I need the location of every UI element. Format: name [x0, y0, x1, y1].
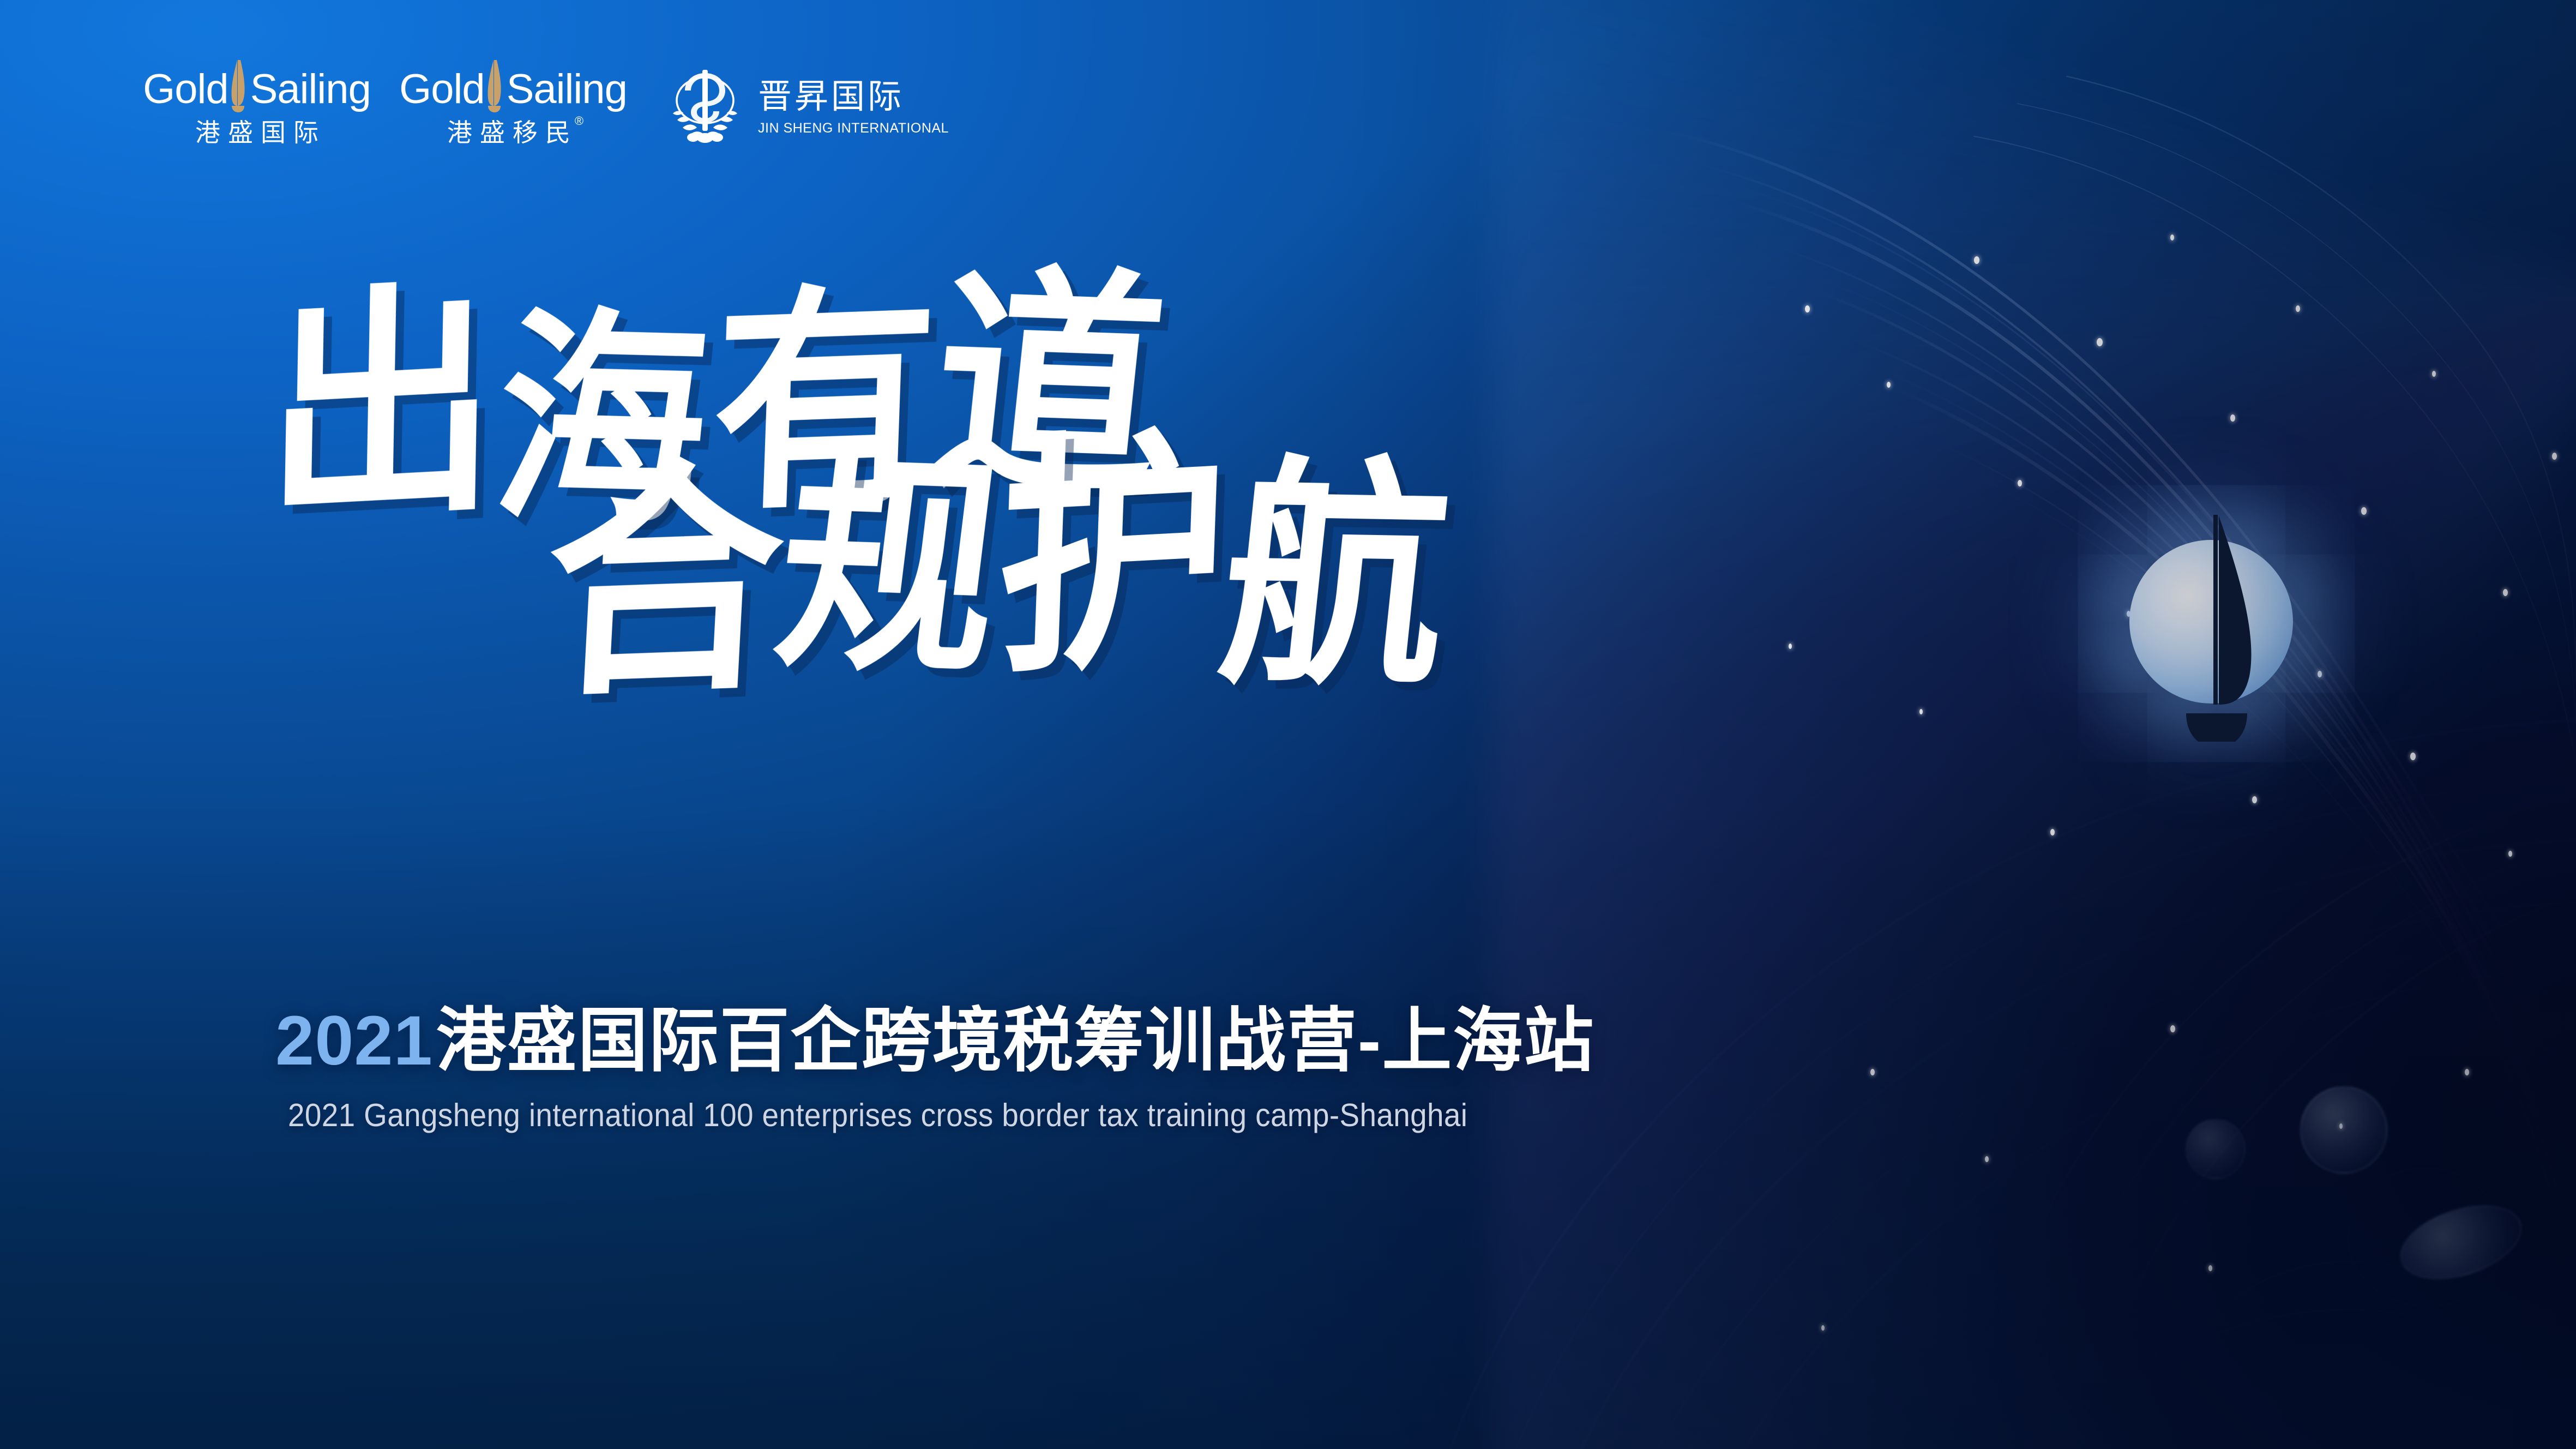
vignette-overlay [0, 0, 2576, 1449]
logo-word-sailing: Sailing [250, 69, 371, 110]
logo-chinese-text: 港盛移民 [447, 118, 578, 147]
subtitle-year: 2021 [275, 1002, 433, 1080]
logo-chinese-name: 港盛移民® [385, 120, 641, 145]
subtitle-chinese-text: 港盛国际百企跨境税筹训战营-上海站 [436, 1002, 1595, 1080]
logo-chinese-name: 晋昇国际 [758, 80, 949, 114]
logo-gold-sailing-international[interactable]: Gold Sailing 港盛国际 [129, 64, 385, 145]
logo-wordmark: Gold Sailing [129, 64, 385, 115]
logo-word-sailing: Sailing [507, 69, 627, 110]
promo-banner: Gold Sailing 港盛国际 Gold [0, 0, 2576, 1449]
registered-mark: ® [575, 114, 583, 128]
logo-jin-sheng-international[interactable]: 晋昇国际 JIN SHENG INTERNATIONAL [664, 64, 949, 148]
logo-text-group: 晋昇国际 JIN SHENG INTERNATIONAL [758, 80, 949, 135]
logo-english-name: JIN SHENG INTERNATIONAL [758, 122, 949, 135]
logo-gold-sailing-immigration[interactable]: Gold Sailing 港盛移民® [385, 64, 641, 145]
logo-bar: Gold Sailing 港盛国际 Gold [129, 64, 949, 148]
logo-wordmark: Gold Sailing [385, 64, 641, 115]
subtitle-chinese: 2021港盛国际百企跨境税筹训战营-上海站 [275, 1006, 1594, 1076]
logo-word-gold: Gold [399, 69, 485, 110]
logo-word-gold: Gold [143, 69, 228, 110]
subtitle-english: 2021 Gangsheng international 100 enterpr… [288, 1099, 1467, 1132]
sail-icon [486, 60, 504, 112]
sail-icon [230, 60, 248, 112]
crest-icon [664, 67, 746, 148]
logo-chinese-name: 港盛国际 [129, 120, 385, 145]
